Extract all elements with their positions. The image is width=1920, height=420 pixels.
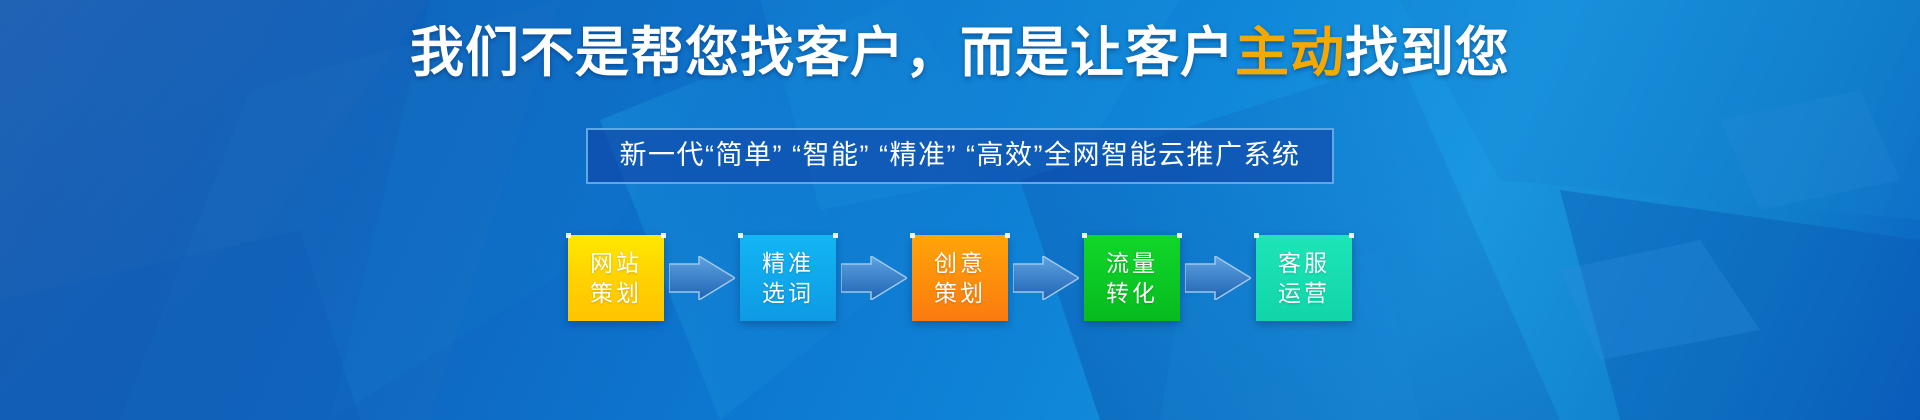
headline-accent: 主动 bbox=[1235, 23, 1345, 83]
chevron-right-arrow-icon bbox=[669, 256, 735, 300]
subtitle-text: 新一代“简单” “智能” “精准” “高效”全网智能云推广系统 bbox=[620, 140, 1301, 170]
flow-step-line2: 转化 bbox=[1106, 279, 1158, 308]
flow-step-website-planning[interactable]: 网站 策划 bbox=[568, 235, 664, 321]
banner-headline: 我们不是帮您找客户，而是让客户主动找到您 bbox=[0, 22, 1920, 84]
process-flow: 网站 策划 精准 选词 创意 策划 bbox=[0, 228, 1920, 328]
flow-step-line2: 运营 bbox=[1278, 279, 1330, 308]
flow-step-line2: 策划 bbox=[934, 279, 986, 308]
flow-step-creative-planning[interactable]: 创意 策划 bbox=[912, 235, 1008, 321]
flow-step-line1: 流量 bbox=[1106, 249, 1158, 278]
promotional-banner: 我们不是帮您找客户，而是让客户主动找到您 新一代“简单” “智能” “精准” “… bbox=[0, 0, 1920, 420]
flow-step-line1: 精准 bbox=[762, 249, 814, 278]
flow-step-service-operations[interactable]: 客服 运营 bbox=[1256, 235, 1352, 321]
flow-step-line2: 策划 bbox=[590, 279, 642, 308]
subtitle-box: 新一代“简单” “智能” “精准” “高效”全网智能云推广系统 bbox=[586, 128, 1334, 184]
flow-step-traffic-conversion[interactable]: 流量 转化 bbox=[1084, 235, 1180, 321]
flow-arrow-4 bbox=[1180, 235, 1256, 321]
flow-arrow-2 bbox=[836, 235, 912, 321]
flow-step-line1: 创意 bbox=[934, 249, 986, 278]
flow-arrow-1 bbox=[664, 235, 740, 321]
banner-subtitle-container: 新一代“简单” “智能” “精准” “高效”全网智能云推广系统 bbox=[0, 128, 1920, 184]
flow-step-keyword-selection[interactable]: 精准 选词 bbox=[740, 235, 836, 321]
chevron-right-arrow-icon bbox=[841, 256, 907, 300]
headline-suffix: 找到您 bbox=[1345, 23, 1510, 83]
chevron-right-arrow-icon bbox=[1013, 256, 1079, 300]
headline-prefix: 我们不是帮您找客户，而是让客户 bbox=[410, 23, 1235, 83]
chevron-right-arrow-icon bbox=[1185, 256, 1251, 300]
flow-arrow-3 bbox=[1008, 235, 1084, 321]
flow-step-line1: 客服 bbox=[1278, 249, 1330, 278]
flow-step-line2: 选词 bbox=[762, 279, 814, 308]
flow-step-line1: 网站 bbox=[590, 249, 642, 278]
